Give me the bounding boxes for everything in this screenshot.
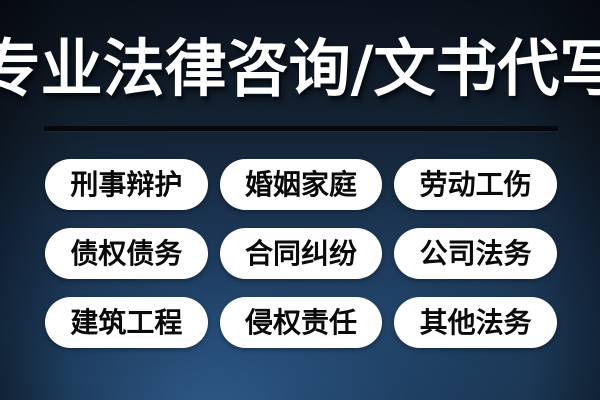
- service-pill-criminal-defense[interactable]: 刑事辩护: [45, 159, 208, 210]
- title-divider: [44, 126, 558, 131]
- service-pill-contract-dispute[interactable]: 合同纠纷: [220, 228, 383, 279]
- page-title: 专业法律咨询/文书代写: [0, 26, 600, 112]
- service-pill-marriage-family[interactable]: 婚姻家庭: [220, 159, 383, 210]
- promo-poster: 专业法律咨询/文书代写 刑事辩护 婚姻家庭 劳动工伤 债权债务 合同纠纷 公司法…: [0, 0, 600, 400]
- service-pill-construction-engineering[interactable]: 建筑工程: [45, 297, 208, 348]
- service-pill-creditor-debt[interactable]: 债权债务: [45, 228, 208, 279]
- service-pill-corporate-legal[interactable]: 公司法务: [394, 228, 557, 279]
- service-pill-labor-injury[interactable]: 劳动工伤: [394, 159, 557, 210]
- service-pill-grid: 刑事辩护 婚姻家庭 劳动工伤 债权债务 合同纠纷 公司法务 建筑工程 侵权责任 …: [45, 159, 557, 348]
- service-pill-row: 刑事辩护 婚姻家庭 劳动工伤: [45, 159, 557, 210]
- poster-content: 专业法律咨询/文书代写 刑事辩护 婚姻家庭 劳动工伤 债权债务 合同纠纷 公司法…: [0, 0, 600, 400]
- service-pill-row: 建筑工程 侵权责任 其他法务: [45, 297, 557, 348]
- service-pill-tort-liability[interactable]: 侵权责任: [220, 297, 383, 348]
- service-pill-row: 债权债务 合同纠纷 公司法务: [45, 228, 557, 279]
- service-pill-other-legal[interactable]: 其他法务: [394, 297, 557, 348]
